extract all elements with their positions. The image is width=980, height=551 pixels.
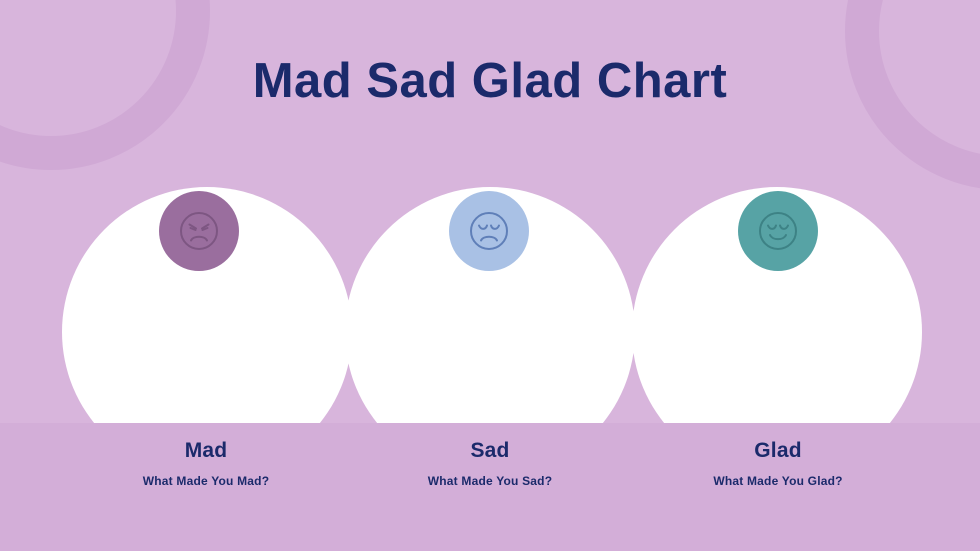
label-question-sad: What Made You Sad?	[330, 473, 650, 489]
emoji-badge-glad	[738, 191, 818, 271]
angry-face-icon	[177, 209, 221, 253]
label-title-glad: Glad	[618, 438, 938, 464]
label-group-sad: Sad What Made You Sad?	[330, 438, 650, 489]
sad-face-icon	[467, 209, 511, 253]
happy-face-icon	[756, 209, 800, 253]
label-group-mad: Mad What Made You Mad?	[46, 438, 366, 489]
label-question-glad: What Made You Glad?	[618, 473, 938, 489]
emoji-badge-mad	[159, 191, 239, 271]
label-title-mad: Mad	[46, 438, 366, 464]
label-group-glad: Glad What Made You Glad?	[618, 438, 938, 489]
emoji-badge-sad	[449, 191, 529, 271]
label-question-mad: What Made You Mad?	[46, 473, 366, 489]
slide-canvas: Mad Sad Glad Chart	[0, 0, 980, 551]
label-title-sad: Sad	[330, 438, 650, 464]
